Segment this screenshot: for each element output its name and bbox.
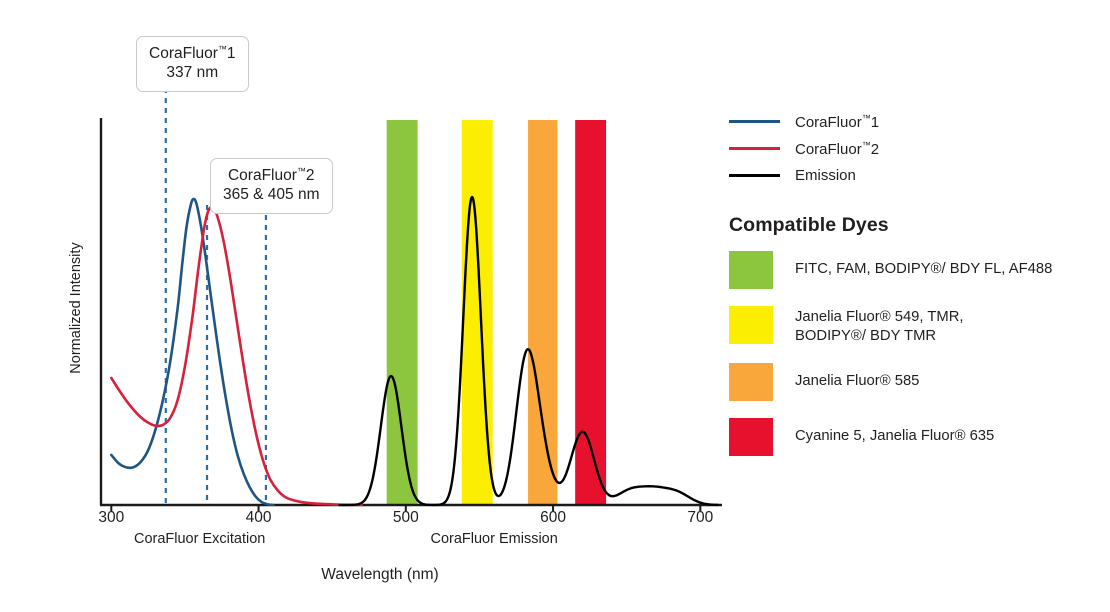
compatible-dyes-heading: Compatible Dyes <box>729 214 1101 237</box>
series-legend: CoraFluor™1CoraFluor™2Emission <box>729 108 1101 189</box>
dye-color-swatch <box>729 251 773 289</box>
dye-row-3: Janelia Fluor® 585 <box>729 363 1101 401</box>
callout-corafluor-2: CoraFluor™2 365 & 405 nm <box>210 158 333 214</box>
legend-row-2: CoraFluor™2 <box>729 135 1101 162</box>
dye-label-line1: Janelia Fluor® 585 <box>795 372 919 391</box>
curve-corafluor-2 <box>111 207 361 505</box>
legend-label: CoraFluor™2 <box>795 140 879 158</box>
dye-row-2: Janelia Fluor® 549, TMR,BODIPY®/ BDY TMR <box>729 306 1101 346</box>
x-axis-label-500: 500 <box>376 509 436 527</box>
y-axis-title: Normalized Intensity <box>68 208 84 408</box>
legend-label: Emission <box>795 167 856 184</box>
legend-line-swatch <box>729 120 780 123</box>
dye-row-1: FITC, FAM, BODIPY®/ BDY FL, AF488 <box>729 251 1101 289</box>
legend-line-swatch <box>729 174 780 177</box>
dye-label: Janelia Fluor® 549, TMR,BODIPY®/ BDY TMR <box>795 306 964 346</box>
legend-label: CoraFluor™1 <box>795 113 879 131</box>
callout-cf2-line1: CoraFluor™2 <box>223 166 320 186</box>
x-axis-sublabel-emission: CoraFluor Emission <box>384 531 604 547</box>
dye-band-green <box>387 120 418 505</box>
legend-line-swatch <box>729 147 780 150</box>
x-axis-title: Wavelength (nm) <box>0 566 760 584</box>
x-axis-label-300: 300 <box>81 509 141 527</box>
dye-label-line1: FITC, FAM, BODIPY®/ BDY FL, AF488 <box>795 260 1052 279</box>
dye-color-swatch <box>729 306 773 344</box>
fluorescence-spectra-figure: CoraFluor™1 337 nm CoraFluor™2 365 & 405… <box>0 0 1110 612</box>
dye-label-line1: Janelia Fluor® 549, TMR, <box>795 308 964 327</box>
legend-row-1: CoraFluor™1 <box>729 108 1101 135</box>
dye-row-4: Cyanine 5, Janelia Fluor® 635 <box>729 418 1101 456</box>
dye-band-orange <box>528 120 557 505</box>
dye-label-line1: Cyanine 5, Janelia Fluor® 635 <box>795 427 994 446</box>
dye-label: Janelia Fluor® 585 <box>795 363 919 391</box>
x-axis-label-600: 600 <box>523 509 583 527</box>
compatible-dyes-list: FITC, FAM, BODIPY®/ BDY FL, AF488Janelia… <box>729 251 1101 456</box>
dye-label: Cyanine 5, Janelia Fluor® 635 <box>795 418 994 446</box>
curve-corafluor-1 <box>111 199 273 505</box>
callout-cf1-line2: 337 nm <box>149 64 236 83</box>
dye-label-line2: BODIPY®/ BDY TMR <box>795 327 964 346</box>
x-axis-sublabel-excitation: CoraFluor Excitation <box>90 531 310 547</box>
legend-row-3: Emission <box>729 162 1101 189</box>
callout-cf2-line2: 365 & 405 nm <box>223 186 320 205</box>
callout-cf1-line1: CoraFluor™1 <box>149 44 236 64</box>
x-axis-label-700: 700 <box>670 509 730 527</box>
dye-color-swatch <box>729 363 773 401</box>
callout-corafluor-1: CoraFluor™1 337 nm <box>136 36 249 92</box>
x-axis-label-400: 400 <box>229 509 289 527</box>
dye-label: FITC, FAM, BODIPY®/ BDY FL, AF488 <box>795 251 1052 279</box>
dye-color-swatch <box>729 418 773 456</box>
legend-panel: CoraFluor™1CoraFluor™2Emission Compatibl… <box>729 108 1101 473</box>
